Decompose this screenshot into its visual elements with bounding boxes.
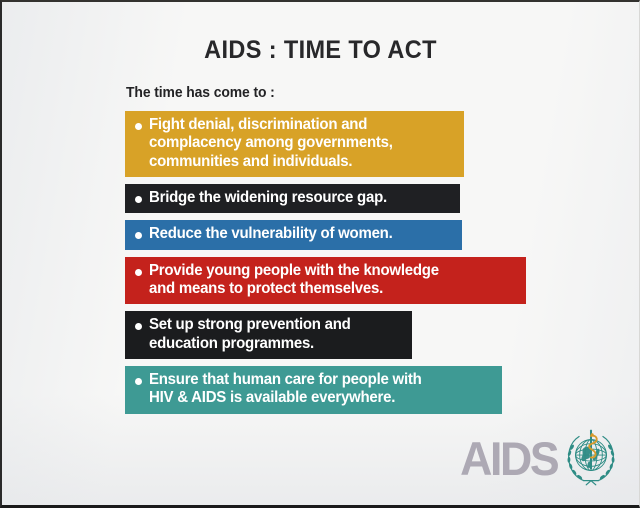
footer-logo-area: AIDS: [455, 427, 621, 489]
bullet-row: Bridge the widening resource gap.: [135, 189, 451, 207]
bullet-dot-icon: [135, 378, 142, 385]
bullet-text: Fight denial, discrimination and complac…: [149, 116, 447, 171]
bullet-text: Reduce the vulnerability of women.: [149, 225, 445, 243]
poster-canvas: AIDS : TIME TO ACT The time has come to …: [0, 0, 640, 508]
bullet-text: Provide young people with the knowledge …: [149, 262, 508, 299]
bullet-block: Ensure that human care for people with H…: [125, 366, 502, 414]
bullet-dot-icon: [135, 269, 142, 276]
bullet-row: Fight denial, discrimination and complac…: [135, 116, 455, 171]
bullet-row: Provide young people with the knowledge …: [135, 262, 517, 299]
bullet-block: Provide young people with the knowledge …: [125, 257, 526, 305]
bullet-block: Set up strong prevention and education p…: [125, 311, 412, 359]
bullet-row: Reduce the vulnerability of women.: [135, 225, 453, 243]
bullet-dot-icon: [135, 232, 142, 239]
page-title: AIDS : TIME TO ACT: [21, 36, 620, 65]
bullet-row: Set up strong prevention and education p…: [135, 316, 403, 353]
bullet-block: Bridge the widening resource gap.: [125, 184, 460, 213]
bullet-list: Fight denial, discrimination and complac…: [125, 111, 545, 421]
bullet-dot-icon: [135, 323, 142, 330]
subtitle-label: The time has come to :: [126, 85, 275, 101]
bullet-block: Reduce the vulnerability of women.: [125, 220, 462, 249]
bullet-text: Bridge the widening resource gap.: [149, 189, 443, 207]
bullet-text: Ensure that human care for people with H…: [149, 371, 484, 408]
bullet-dot-icon: [135, 196, 142, 203]
bullet-text: Set up strong prevention and education p…: [149, 316, 397, 353]
aids-wordmark: AIDS: [460, 435, 557, 482]
bullet-dot-icon: [135, 123, 142, 130]
bullet-block: Fight denial, discrimination and complac…: [125, 111, 464, 177]
who-emblem-icon: [561, 427, 621, 489]
bullet-row: Ensure that human care for people with H…: [135, 371, 493, 408]
